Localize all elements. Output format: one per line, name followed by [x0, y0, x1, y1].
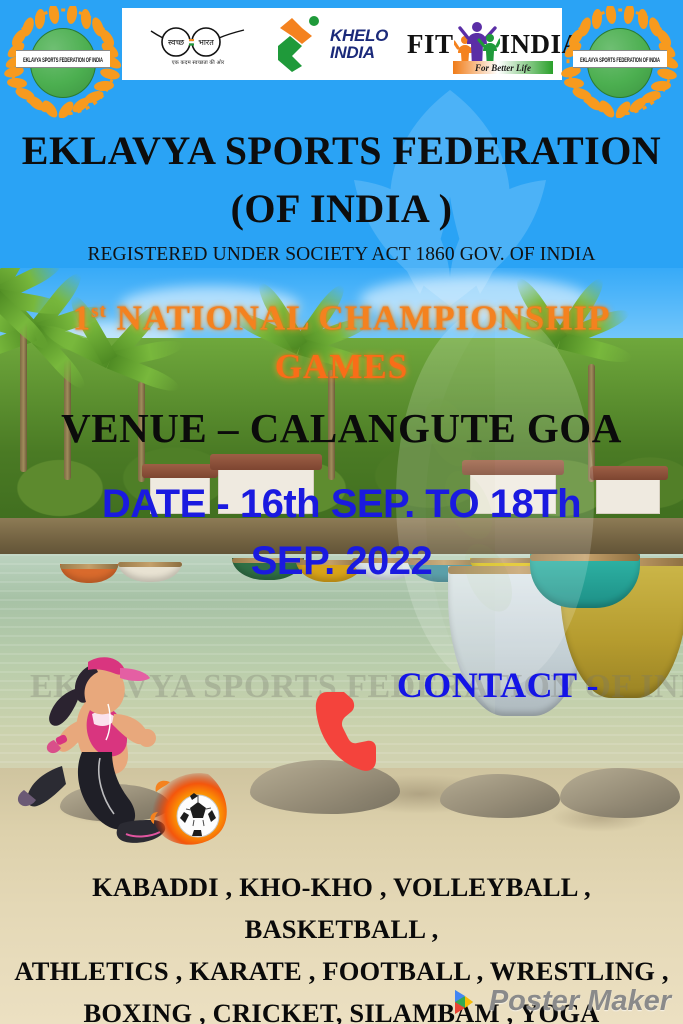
khelo-india-runner-icon	[272, 14, 330, 74]
date-line1: DATE - 16th SEP. TO 18Th	[102, 482, 581, 526]
poster-maker-label: Poster Maker	[489, 985, 671, 1018]
play-store-triangle-icon	[451, 987, 481, 1017]
fit-india-logo: FIT INDIA For Better	[407, 8, 582, 80]
poster-maker-watermark: Poster Maker	[451, 985, 671, 1018]
swachh-lens-right-text: भारत	[198, 38, 214, 47]
partner-logo-strip: स्वच्छ भारत एक कदम स्वच्छता की ओर KHELO …	[122, 8, 562, 80]
swachh-lens-left-text: स्वच्छ	[168, 38, 185, 47]
date-line2: SEP. 2022	[251, 539, 433, 583]
rock	[440, 774, 560, 818]
khelo-line1: KHELO	[330, 27, 388, 44]
federation-emblem-right: EKLAVYA SPORTS FEDERATION OF INDIA	[561, 6, 679, 118]
federation-title-line1: EKLAVYA SPORTS FEDERATION	[22, 128, 661, 173]
khelo-india-wordmark: KHELO INDIA	[330, 27, 388, 61]
swachh-bharat-glasses-icon: स्वच्छ भारत	[150, 24, 246, 58]
emblem-band-text: EKLAVYA SPORTS FEDERATION OF INDIA	[23, 55, 103, 63]
sports-line-1: KABADDI , KHO-KHO , VOLLEYBALL , BASKETB…	[8, 866, 675, 950]
khelo-india-logo: KHELO INDIA	[272, 8, 407, 80]
championship-line2: GAMES	[0, 343, 683, 391]
championship-heading: 1st NATIONAL CHAMPIONSHIP GAMES	[0, 288, 683, 391]
house-roof	[210, 454, 322, 470]
championship-ordinal: 1	[73, 299, 92, 338]
fit-india-tagline: For Better Life	[453, 61, 553, 74]
date-text: DATE - 16th SEP. TO 18Th SEP. 2022	[0, 476, 683, 590]
federation-title: EKLAVYA SPORTS FEDERATION (OF INDIA )	[0, 130, 683, 230]
championship-ordinal-suffix: st	[91, 301, 107, 322]
fit-india-word-fit: FIT	[407, 29, 454, 60]
federation-emblem-left: EKLAVYA SPORTS FEDERATION OF INDIA	[4, 6, 122, 118]
registration-text: REGISTERED UNDER SOCIETY ACT 1860 GOV. O…	[0, 244, 683, 266]
khelo-line2: INDIA	[330, 44, 388, 61]
phone-handset-icon	[313, 688, 379, 774]
poster-canvas: स्वच्छ भारत एक कदम स्वच्छता की ओर KHELO …	[0, 0, 683, 1024]
venue-text: VENUE – CALANGUTE GOA	[0, 404, 683, 452]
emblem-name-band: EKLAVYA SPORTS FEDERATION OF INDIA	[573, 50, 667, 68]
swachh-bharat-logo: स्वच्छ भारत एक कदम स्वच्छता की ओर	[122, 8, 272, 80]
house-roof	[462, 460, 564, 475]
flaming-soccer-ball-icon	[148, 768, 232, 846]
swachh-bharat-tagline: एक कदम स्वच्छता की ओर	[144, 58, 252, 66]
emblem-name-band: EKLAVYA SPORTS FEDERATION OF INDIA	[16, 50, 110, 68]
contact-label: CONTACT -	[397, 664, 599, 706]
federation-title-line2: (OF INDIA )	[0, 188, 683, 230]
championship-line1-rest: NATIONAL CHAMPIONSHIP	[107, 299, 611, 338]
emblem-band-text: EKLAVYA SPORTS FEDERATION OF INDIA	[580, 55, 660, 63]
